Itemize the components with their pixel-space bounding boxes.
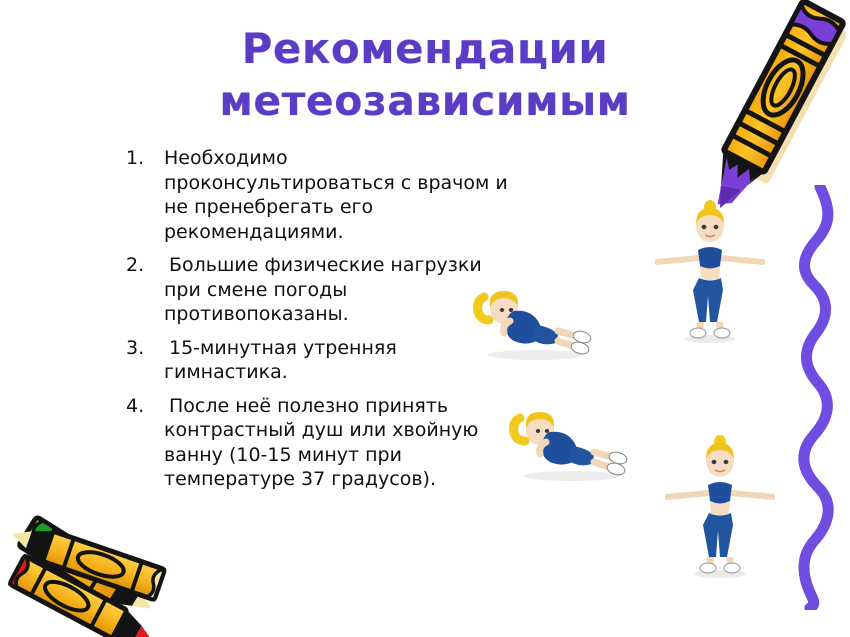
title-line-2: метеозависимым [0,75,850,128]
page-title: Рекомендации метеозависимым [0,22,850,128]
crayon-tip-red [10,556,32,588]
sports-bra [698,247,722,269]
mouth [705,235,715,237]
shoe-front [606,461,626,477]
crayon-label-oval-inner [767,66,800,109]
eye-right [545,429,549,433]
crayon-ridges [49,537,107,589]
crayon-tip [706,157,758,211]
crayon-shadow [727,11,846,184]
list-item: 4. После неё полезно принять контрастный… [126,394,516,492]
head [706,445,734,477]
crayon-tip-green [22,519,56,558]
mouth [715,470,725,472]
list-item: 1. Необходимо проконсультироваться с вра… [126,146,516,244]
hair-bun [713,443,729,450]
crayon-point [133,626,157,637]
pants [693,278,723,322]
head [526,415,554,445]
crayon-ridges [64,540,141,590]
crayon-point [9,525,32,548]
list-item-text: Необходимо проконсультироваться с врачом… [164,146,516,244]
hair-topknot [714,435,726,449]
lying-situp-figure-2 [498,398,638,484]
crayon-label-oval [51,540,100,582]
hair [696,208,724,224]
crayon-tip-point [711,180,741,211]
arm-behind-head [540,442,546,454]
list-item-number: 4. [126,394,156,419]
arms [657,258,763,262]
crayon-collar [709,151,764,200]
crayon-collar [112,610,145,637]
red-tip-crayon [10,556,161,637]
hair [706,443,734,459]
eye-right [724,460,729,464]
shoe-right [714,328,730,338]
midriff [710,501,730,515]
list-item-number: 2. [126,253,156,278]
pants [703,513,733,557]
shoe-back [608,450,628,466]
crayon-barrel [723,1,843,173]
midriff [700,266,720,280]
crayon-barrel [19,517,129,603]
crayon-label-oval [41,576,93,616]
thighs [568,446,594,465]
recommendation-list: 1. Необходимо проконсультироваться с вра… [126,146,516,501]
title-line-1: Рекомендации [0,22,850,75]
calves [696,322,724,331]
figure-shadow [694,570,746,578]
shoe-left [700,563,716,573]
yellow-crayon [7,519,165,600]
shoe-right [724,563,740,573]
eye-left [712,460,717,464]
crayon-ridges [734,35,825,155]
figure-shadow [524,471,620,481]
hair [526,412,554,428]
calves [706,557,734,566]
shoe-left [690,328,706,338]
crayon-trio-bottom-left-icon [2,495,187,637]
list-item-text: После неё полезно принять контрастный ду… [164,394,516,492]
hair-bun [703,208,719,215]
eye-left [536,429,540,433]
crayon-back-band [790,4,842,47]
lower-legs [594,452,614,468]
hair-topknot [704,200,716,214]
crayon-barrel [10,556,127,637]
green-tip-crayon [19,517,161,623]
shoe-front [570,340,590,356]
crayon-top-right-icon [706,0,846,211]
shoe-back [572,329,592,345]
crayon-collar [110,574,145,613]
list-item-number: 1. [126,146,156,171]
slide-canvas: Рекомендации метеозависимым 1. Необходим… [0,0,850,637]
crayon-point [132,592,156,615]
standing-arms-out-figure-2 [665,430,775,582]
crayon-ridges [32,569,105,626]
crayon-barrel [43,531,165,600]
lower-legs [558,331,578,347]
squiggle-stroke [804,187,828,608]
list-item-text: Большие физические нагрузки при смене по… [164,253,516,327]
eye-left [702,225,707,229]
list-item: 3. 15-минутная утренняя гимнастика. [126,336,516,385]
list-item-text: 15-минутная утренняя гимнастика. [164,336,516,385]
figure-shadow [684,335,736,343]
arms [667,493,773,497]
torso-shirt [542,432,578,465]
sports-bra [708,482,732,504]
crayon-tip-cream [147,567,165,600]
list-item-number: 3. [126,336,156,361]
standing-arms-out-figure-1 [655,196,765,346]
purple-squiggle-icon [782,185,850,610]
list-item: 2. Большие физические нагрузки при смене… [126,253,516,327]
crayon-collar [24,525,53,562]
crayon-label-oval [755,54,811,122]
eye-right [714,225,719,229]
head [696,210,724,242]
crayon-label-oval [75,547,127,582]
thighs [532,325,558,344]
